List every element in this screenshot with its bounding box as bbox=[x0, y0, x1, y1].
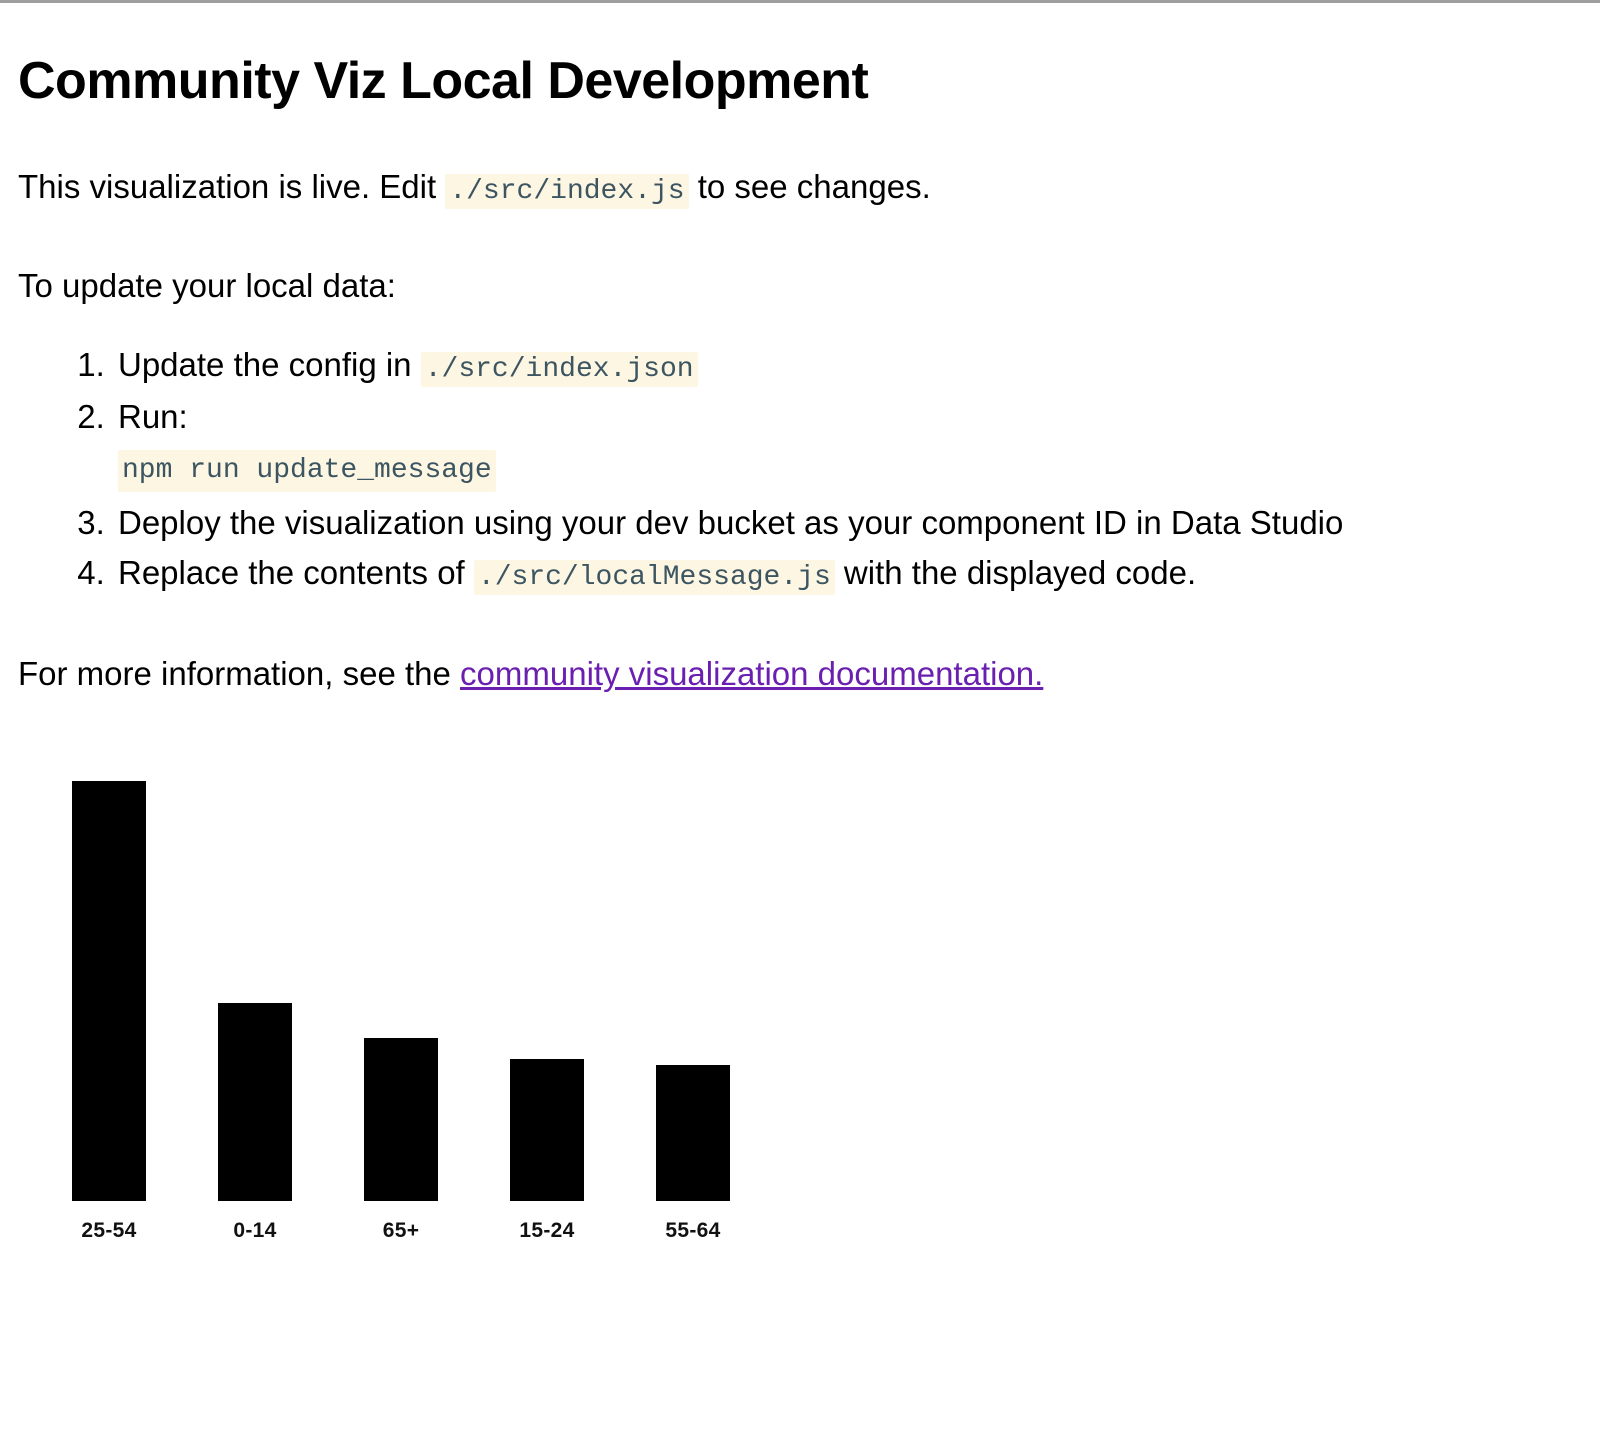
bar-15-24[interactable] bbox=[510, 1059, 584, 1201]
list-item: Replace the contents of ./src/localMessa… bbox=[114, 550, 1582, 598]
page-container: Community Viz Local Development This vis… bbox=[0, 53, 1600, 1269]
step-1-code: ./src/index.json bbox=[421, 352, 698, 387]
intro-text-before: This visualization is live. Edit bbox=[18, 168, 445, 205]
intro-paragraph: This visualization is live. Edit ./src/i… bbox=[18, 166, 1582, 209]
steps-list: Update the config in ./src/index.json Ru… bbox=[18, 342, 1582, 597]
step-4-text-after: with the displayed code. bbox=[835, 554, 1196, 591]
bar-label-25-54: 25-54 bbox=[52, 1219, 166, 1243]
step-4-text-before: Replace the contents of bbox=[118, 554, 474, 591]
bar-label-0-14: 0-14 bbox=[198, 1219, 312, 1243]
step-4-code: ./src/localMessage.js bbox=[474, 560, 835, 595]
bar-chart: 25-540-1465+15-2455-64 bbox=[54, 759, 814, 1269]
bar-label-65+: 65+ bbox=[344, 1219, 458, 1243]
step-2-command: npm run update_message bbox=[118, 450, 496, 493]
bar-chart-container: 25-540-1465+15-2455-64 bbox=[18, 759, 1582, 1269]
list-item: Update the config in ./src/index.json bbox=[114, 342, 1582, 390]
footer-text-before: For more information, see the bbox=[18, 655, 460, 692]
bar-label-15-24: 15-24 bbox=[490, 1219, 604, 1243]
community-visualization-documentation-link[interactable]: community visualization documentation. bbox=[460, 655, 1043, 692]
bar-65+[interactable] bbox=[364, 1038, 438, 1201]
bar-25-54[interactable] bbox=[72, 781, 146, 1201]
intro-code-path: ./src/index.js bbox=[445, 174, 688, 209]
update-heading: To update your local data: bbox=[18, 265, 1582, 306]
step-3-text: Deploy the visualization using your dev … bbox=[118, 504, 1343, 541]
bar-label-55-64: 55-64 bbox=[636, 1219, 750, 1243]
page-title: Community Viz Local Development bbox=[18, 53, 1582, 110]
bar-55-64[interactable] bbox=[656, 1065, 730, 1201]
list-item: Run: npm run update_message bbox=[114, 394, 1582, 496]
footer-paragraph: For more information, see the community … bbox=[18, 653, 1582, 694]
step-2-text-before: Run: bbox=[118, 398, 188, 435]
bar-0-14[interactable] bbox=[218, 1003, 292, 1201]
list-item: Deploy the visualization using your dev … bbox=[114, 500, 1582, 546]
intro-text-after: to see changes. bbox=[689, 168, 931, 205]
step-1-text-before: Update the config in bbox=[118, 346, 421, 383]
